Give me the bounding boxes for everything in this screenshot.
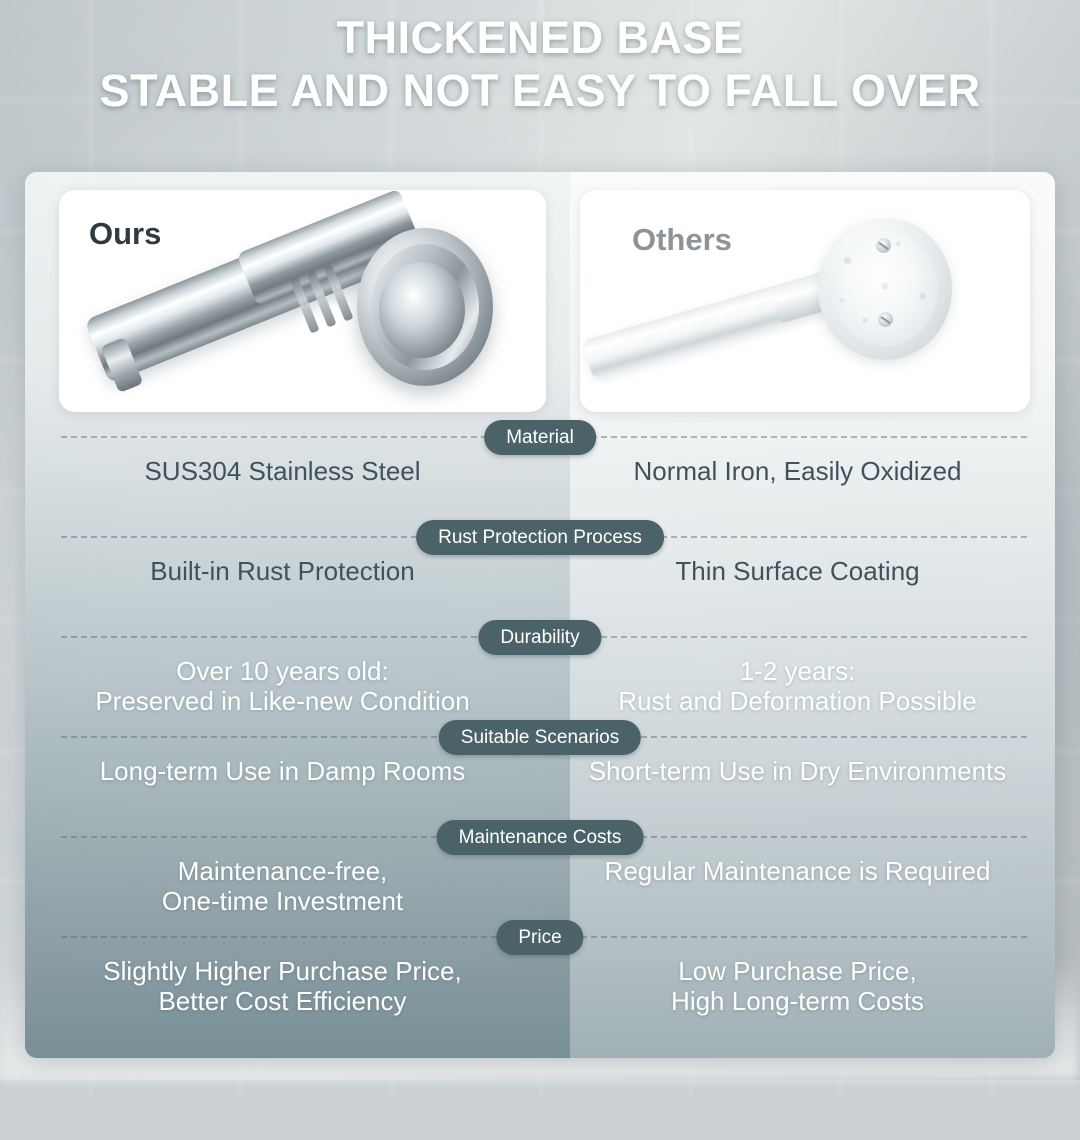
others-value-maintenance-costs: Regular Maintenance is Required [540,856,1055,917]
comparison-rows: Material SUS304 Stainless Steel Normal I… [25,420,1055,1020]
others-card-label: Others [632,222,732,258]
feature-label-material: Material [484,420,596,455]
comparison-row-material: Material SUS304 Stainless Steel Normal I… [25,420,1055,520]
row-values: Long-term Use in Damp Rooms Short-term U… [25,756,1055,786]
comparison-row-maintenance-costs: Maintenance Costs Maintenance-free, One-… [25,820,1055,920]
comparison-panel: Ours Others Material SUS304 Stainless St… [25,172,1055,1058]
headline-line-2: STABLE AND NOT EASY TO FALL OVER [0,67,1080,116]
others-value-suitable-scenarios: Short-term Use in Dry Environments [540,756,1055,786]
row-values: Over 10 years old: Preserved in Like-new… [25,656,1055,717]
ours-value-rust-protection-process: Built-in Rust Protection [25,556,540,586]
feature-label-rust-protection-process: Rust Protection Process [416,520,664,555]
others-value-material: Normal Iron, Easily Oxidized [540,456,1055,486]
ours-value-material: SUS304 Stainless Steel [25,456,540,486]
others-value-price: Low Purchase Price, High Long-term Costs [540,956,1055,1017]
others-value-durability: 1-2 years: Rust and Deformation Possible [540,656,1055,717]
feature-label-maintenance-costs: Maintenance Costs [437,820,644,855]
row-values: Maintenance-free, One-time Investment Re… [25,856,1055,917]
ours-card-label: Ours [89,216,161,252]
ours-product-card: Ours [59,190,546,412]
feature-label-suitable-scenarios: Suitable Scenarios [439,720,641,755]
feature-label-price: Price [496,920,583,955]
feature-label-durability: Durability [478,620,601,655]
product-cards: Ours Others [25,172,1055,420]
comparison-row-rust-protection-process: Rust Protection Process Built-in Rust Pr… [25,520,1055,620]
comparison-row-durability: Durability Over 10 years old: Preserved … [25,620,1055,720]
ours-value-price: Slightly Higher Purchase Price, Better C… [25,956,540,1017]
comparison-row-price: Price Slightly Higher Purchase Price, Be… [25,920,1055,1020]
comparison-row-suitable-scenarios: Suitable Scenarios Long-term Use in Damp… [25,720,1055,820]
page-title: THICKENED BASE STABLE AND NOT EASY TO FA… [0,14,1080,115]
row-values: Built-in Rust Protection Thin Surface Co… [25,556,1055,586]
row-values: SUS304 Stainless Steel Normal Iron, Easi… [25,456,1055,486]
others-product-card: Others [580,190,1030,412]
ours-value-suitable-scenarios: Long-term Use in Damp Rooms [25,756,540,786]
others-value-rust-protection-process: Thin Surface Coating [540,556,1055,586]
ours-value-durability: Over 10 years old: Preserved in Like-new… [25,656,540,717]
ours-value-maintenance-costs: Maintenance-free, One-time Investment [25,856,540,917]
row-values: Slightly Higher Purchase Price, Better C… [25,956,1055,1017]
headline-line-1: THICKENED BASE [0,14,1080,63]
